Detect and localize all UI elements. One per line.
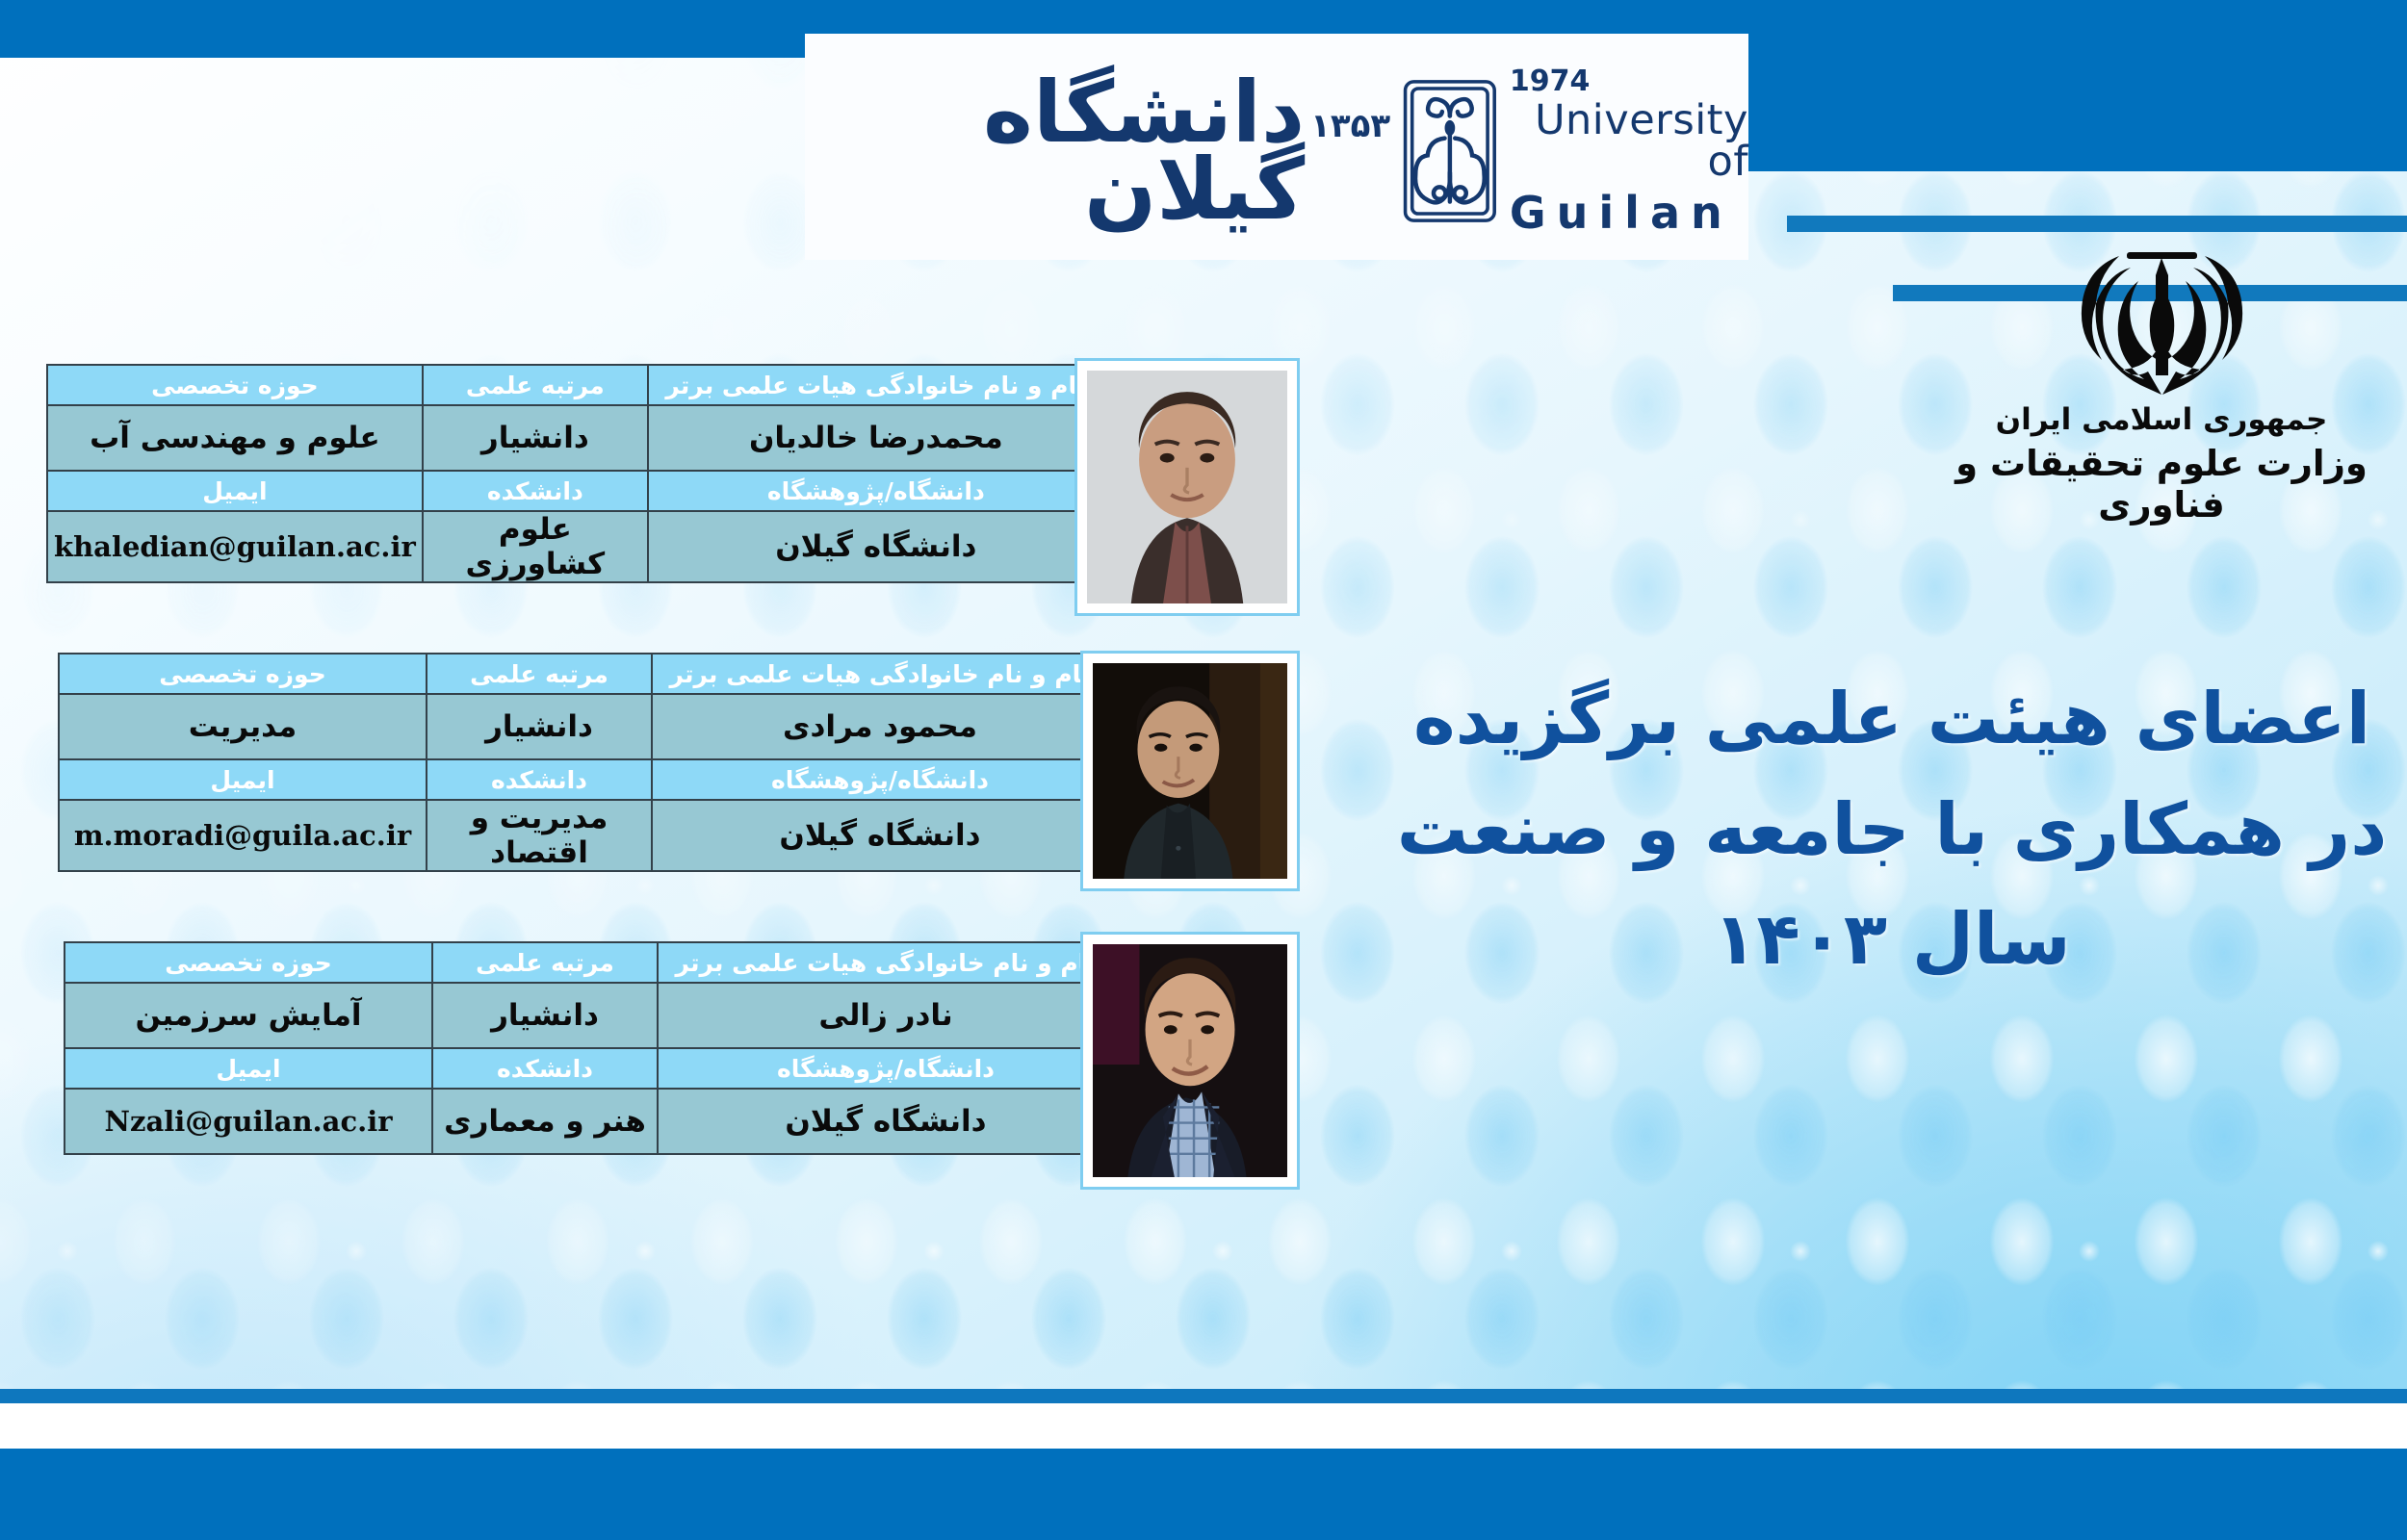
table-row: دانشگاه/پژوهشگاه دانشکده ایمیل bbox=[65, 1048, 1114, 1089]
poster-canvas: 1974 University of Guilan ۱۳۵۳ دانشگاه گ… bbox=[0, 0, 2407, 1540]
ministry-emblem-block: جمهوری اسلامی ایران وزارت علوم تحقیقات و… bbox=[1935, 252, 2388, 526]
value-field: آمایش سرزمین bbox=[65, 983, 432, 1048]
logo-founding-year-latin: 1974 bbox=[1510, 67, 1591, 96]
value-rank: دانشیار bbox=[432, 983, 658, 1048]
bottom-blue-bar bbox=[0, 1449, 2407, 1540]
ministry-country-label: جمهوری اسلامی ایران bbox=[1935, 402, 2388, 437]
member-table-2: نام و نام خانوادگی هیات علمی برتر مرتبه … bbox=[58, 653, 1109, 872]
headline-line-3: سال ۱۴۰۳ bbox=[1377, 885, 2407, 995]
value-name: محمدرضا خالدیان bbox=[648, 405, 1104, 471]
header-institute: دانشگاه/پژوهشگاه bbox=[648, 471, 1104, 511]
logo-persian-text: ۱۳۵۳ دانشگاه گیلان bbox=[805, 74, 1390, 226]
header-rank: مرتبه علمی bbox=[423, 365, 648, 405]
bottom-white-band bbox=[0, 1403, 2407, 1449]
member-table-3: نام و نام خانوادگی هیات علمی برتر مرتبه … bbox=[64, 941, 1115, 1155]
value-faculty: مدیریت و اقتصاد bbox=[427, 800, 652, 871]
value-name: نادر زالی bbox=[658, 983, 1114, 1048]
value-email[interactable]: Nzali@guilan.ac.ir bbox=[65, 1089, 432, 1154]
member-card-1: نام و نام خانوادگی هیات علمی برتر مرتبه … bbox=[46, 364, 1105, 583]
value-field: مدیریت bbox=[59, 694, 427, 759]
headline-line-1: اعضای هیئت علمی برگزیده bbox=[1377, 664, 2407, 775]
value-institute: دانشگاه گیلان bbox=[648, 511, 1104, 582]
header-email: ایمیل bbox=[47, 471, 423, 511]
header-faculty: دانشکده bbox=[427, 759, 652, 800]
member-portrait-3 bbox=[1093, 944, 1287, 1177]
header-institute: دانشگاه/پژوهشگاه bbox=[652, 759, 1108, 800]
header-name: نام و نام خانوادگی هیات علمی برتر bbox=[658, 942, 1114, 983]
header-email: ایمیل bbox=[59, 759, 427, 800]
header-email: ایمیل bbox=[65, 1048, 432, 1089]
top-blue-bar-right bbox=[1745, 0, 2407, 171]
table-row: نام و نام خانوادگی هیات علمی برتر مرتبه … bbox=[65, 942, 1114, 983]
accent-stripe-upper bbox=[1787, 216, 2407, 232]
guilan-peacock-emblem-icon bbox=[1402, 69, 1498, 233]
header-field: حوزه تخصصی bbox=[59, 654, 427, 694]
table-row: دانشگاه گیلان علوم کشاورزی khaledian@gui… bbox=[47, 511, 1104, 582]
value-faculty: علوم کشاورزی bbox=[423, 511, 648, 582]
table-row: نام و نام خانوادگی هیات علمی برتر مرتبه … bbox=[47, 365, 1104, 405]
value-institute: دانشگاه گیلان bbox=[652, 800, 1108, 871]
table-row: محمدرضا خالدیان دانشیار علوم و مهندسی آب bbox=[47, 405, 1104, 471]
member-photo-frame-2 bbox=[1080, 651, 1300, 891]
member-portrait-1 bbox=[1087, 371, 1287, 603]
poster-headline: اعضای هیئت علمی برگزیده در همکاری با جام… bbox=[1377, 664, 2407, 995]
logo-guilan-word: Guilan bbox=[1510, 191, 1733, 235]
logo-persian-name: دانشگاه گیلان bbox=[805, 74, 1305, 226]
table-row: نادر زالی دانشیار آمایش سرزمین bbox=[65, 983, 1114, 1048]
header-field: حوزه تخصصی bbox=[47, 365, 423, 405]
table-row: دانشگاه گیلان هنر و معماری Nzali@guilan.… bbox=[65, 1089, 1114, 1154]
value-rank: دانشیار bbox=[423, 405, 648, 471]
header-rank: مرتبه علمی bbox=[432, 942, 658, 983]
table-row: محمود مرادی دانشیار مدیریت bbox=[59, 694, 1108, 759]
value-email[interactable]: khaledian@guilan.ac.ir bbox=[47, 511, 423, 582]
header-field: حوزه تخصصی bbox=[65, 942, 432, 983]
table-row: دانشگاه/پژوهشگاه دانشکده ایمیل bbox=[59, 759, 1108, 800]
header-faculty: دانشکده bbox=[423, 471, 648, 511]
logo-university-word: University of bbox=[1510, 100, 1748, 183]
member-photo-frame-3 bbox=[1080, 932, 1300, 1190]
university-logo-banner: 1974 University of Guilan ۱۳۵۳ دانشگاه گ… bbox=[805, 34, 1748, 260]
header-name: نام و نام خانوادگی هیات علمی برتر bbox=[652, 654, 1108, 694]
member-card-3: نام و نام خانوادگی هیات علمی برتر مرتبه … bbox=[64, 941, 1115, 1155]
logo-english-text: 1974 University of Guilan bbox=[1510, 67, 1748, 235]
header-institute: دانشگاه/پژوهشگاه bbox=[658, 1048, 1114, 1089]
value-email[interactable]: m.moradi@guila.ac.ir bbox=[59, 800, 427, 871]
member-table-1: نام و نام خانوادگی هیات علمی برتر مرتبه … bbox=[46, 364, 1105, 583]
ministry-name-label: وزارت علوم تحقیقات و فناوری bbox=[1935, 443, 2388, 526]
iran-emblem-icon bbox=[2063, 252, 2261, 397]
logo-founding-year-persian: ۱۳۵۳ bbox=[1310, 107, 1390, 145]
table-row: نام و نام خانوادگی هیات علمی برتر مرتبه … bbox=[59, 654, 1108, 694]
value-rank: دانشیار bbox=[427, 694, 652, 759]
value-field: علوم و مهندسی آب bbox=[47, 405, 423, 471]
member-portrait-2 bbox=[1093, 663, 1287, 879]
member-photo-frame-1 bbox=[1074, 358, 1300, 616]
bottom-accent-line bbox=[0, 1389, 2407, 1403]
member-card-2: نام و نام خانوادگی هیات علمی برتر مرتبه … bbox=[58, 653, 1109, 872]
header-name: نام و نام خانوادگی هیات علمی برتر bbox=[648, 365, 1104, 405]
table-row: دانشگاه گیلان مدیریت و اقتصاد m.moradi@g… bbox=[59, 800, 1108, 871]
headline-line-2: در همکاری با جامعه و صنعت bbox=[1377, 775, 2407, 885]
table-row: دانشگاه/پژوهشگاه دانشکده ایمیل bbox=[47, 471, 1104, 511]
header-faculty: دانشکده bbox=[432, 1048, 658, 1089]
top-blue-bar-left bbox=[0, 0, 807, 58]
value-name: محمود مرادی bbox=[652, 694, 1108, 759]
value-faculty: هنر و معماری bbox=[432, 1089, 658, 1154]
value-institute: دانشگاه گیلان bbox=[658, 1089, 1114, 1154]
header-rank: مرتبه علمی bbox=[427, 654, 652, 694]
